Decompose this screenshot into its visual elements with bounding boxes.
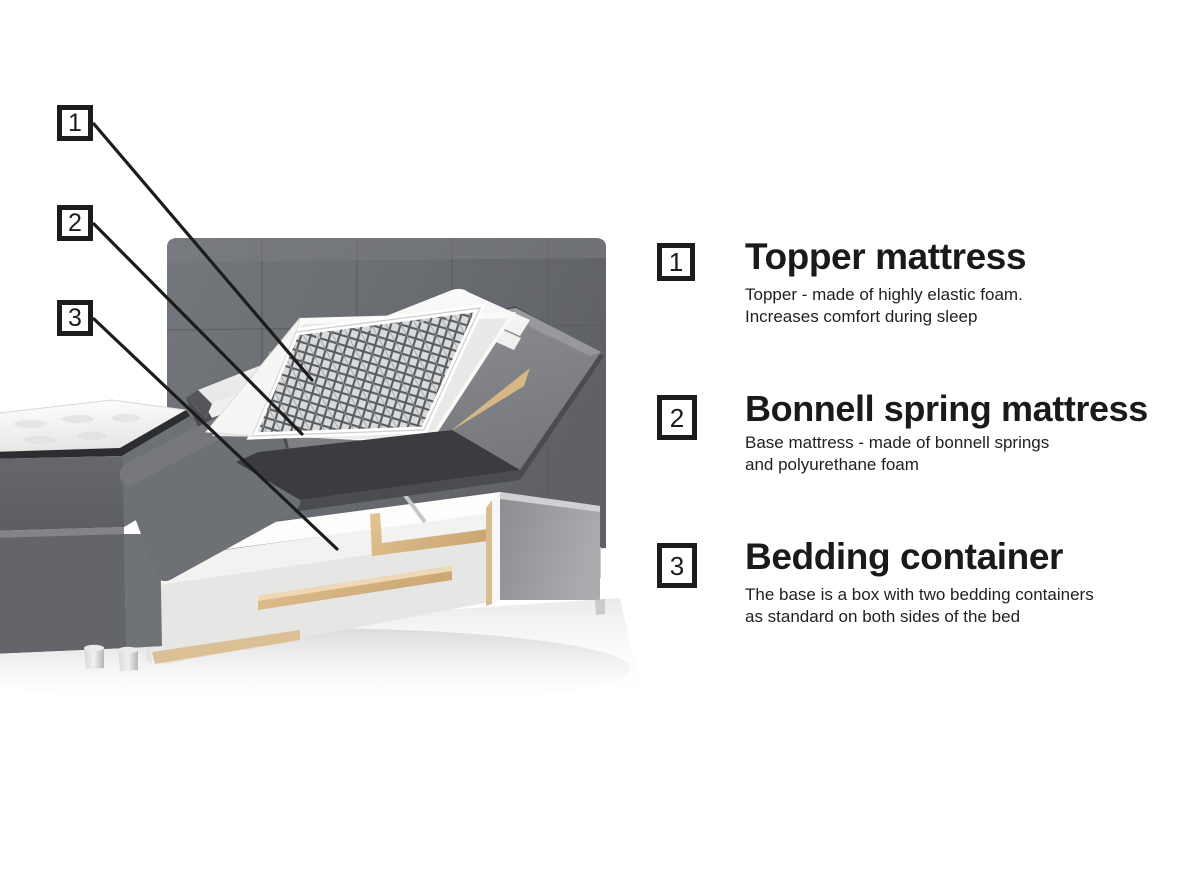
product-diagram-page: 1 2 3 1 Topper mattress Topper - made of… — [0, 0, 1200, 869]
legend-text-block-2: Bonnell spring mattress Base mattress - … — [745, 390, 1200, 476]
callout-badge-1: 1 — [57, 105, 93, 141]
callout-badge-1-number: 1 — [68, 111, 82, 136]
legend-title-1: Topper mattress — [745, 238, 1200, 276]
legend-badge-2: 2 — [657, 395, 697, 440]
legend-description-2: Base mattress - made of bonnell springs … — [745, 432, 1200, 476]
callout-badge-2: 2 — [57, 205, 93, 241]
wood-edge-right — [486, 500, 492, 606]
callout-badge-3: 3 — [57, 300, 93, 336]
feature-legend: 1 Topper mattress Topper - made of highl… — [650, 0, 1200, 869]
bed-illustration: 1 2 3 — [0, 0, 650, 869]
legend-description-1: Topper - made of highly elastic foam. In… — [745, 284, 1200, 328]
legend-title-3: Bedding container — [745, 538, 1200, 576]
legend-badge-1-number: 1 — [669, 249, 683, 275]
legend-badge-2-number: 2 — [670, 405, 684, 431]
legend-badge-3-number: 3 — [670, 553, 684, 579]
legend-badge-1: 1 — [657, 243, 695, 281]
callout-badge-3-number: 3 — [68, 306, 82, 331]
legend-title-2: Bonnell spring mattress — [745, 390, 1200, 427]
legend-text-block-3: Bedding container The base is a box with… — [745, 538, 1200, 628]
legend-text-block-1: Topper mattress Topper - made of highly … — [745, 238, 1200, 328]
legend-description-3: The base is a box with two bedding conta… — [745, 584, 1200, 628]
callout-badge-2-number: 2 — [68, 211, 82, 236]
legend-badge-3: 3 — [657, 543, 697, 588]
